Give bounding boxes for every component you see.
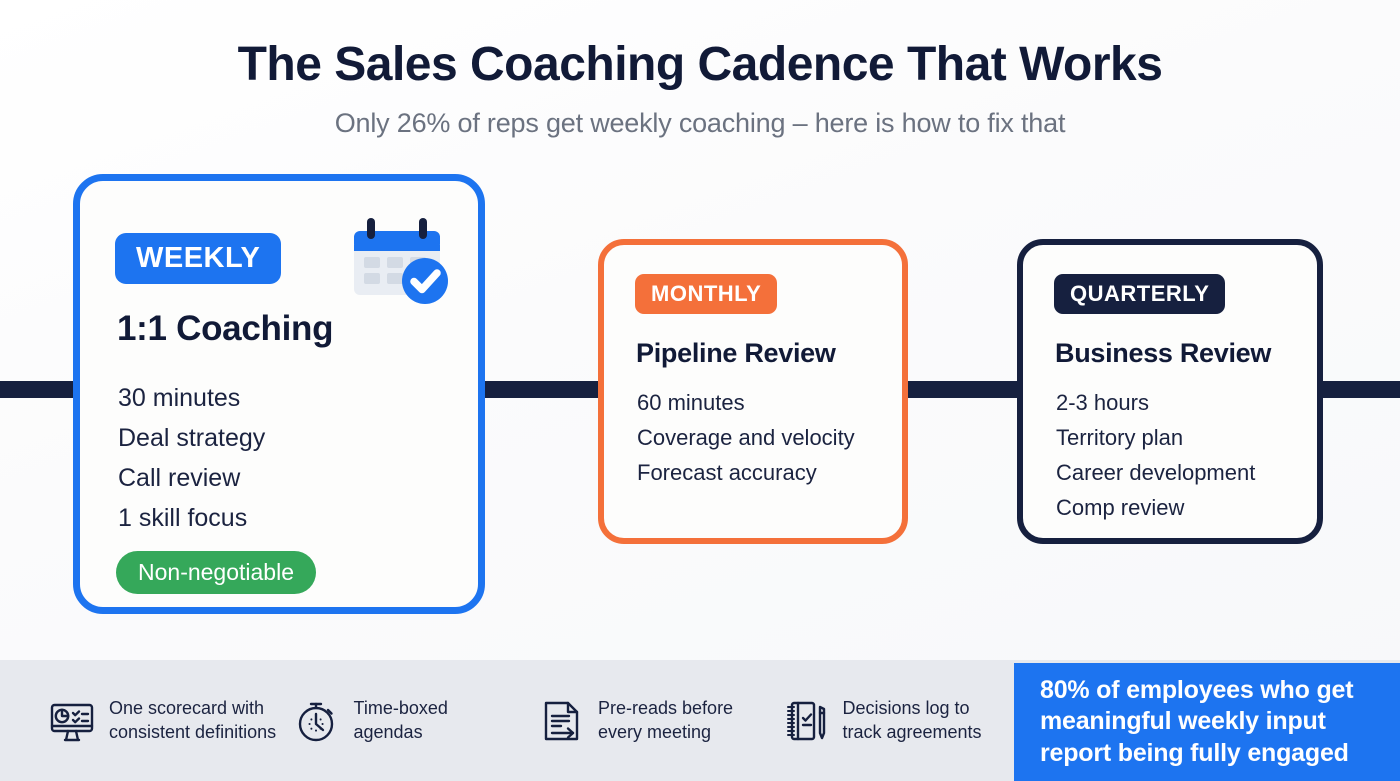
list-item: Territory plan <box>1056 420 1255 455</box>
list-item: 60 minutes <box>637 385 855 420</box>
cadence-card-quarterly[interactable]: QUARTERLY Business Review 2-3 hours Terr… <box>1017 239 1323 544</box>
card-heading-monthly: Pipeline Review <box>636 338 836 369</box>
footer-item-timeboxed: Time-boxed agendas <box>281 697 526 745</box>
footer-bar: One scorecard with consistent definition… <box>0 660 1400 781</box>
monitor-scorecard-icon <box>48 697 96 745</box>
badge-weekly: WEEKLY <box>115 233 281 284</box>
badge-quarterly: QUARTERLY <box>1054 274 1225 314</box>
footer-item-text: Time-boxed agendas <box>354 697 448 745</box>
list-item: 30 minutes <box>118 378 265 418</box>
footer-item-line1: Pre-reads before <box>598 697 733 721</box>
list-item: Call review <box>118 458 265 498</box>
notebook-pen-icon <box>782 697 830 745</box>
list-item: Career development <box>1056 455 1255 490</box>
stopwatch-icon <box>293 697 341 745</box>
footer-item-prereads: Pre-reads before every meeting <box>525 697 770 745</box>
status-badge-non-negotiable: Non-negotiable <box>116 551 316 594</box>
stat-highlight-box: 80% of employees who get meaningful week… <box>1014 663 1400 781</box>
page-subtitle: Only 26% of reps get weekly coaching – h… <box>0 108 1400 139</box>
card-detail-list-monthly: 60 minutes Coverage and velocity Forecas… <box>637 385 855 490</box>
footer-item-line2: track agreements <box>843 721 982 745</box>
cadence-card-weekly[interactable]: WEEKLY 1:1 Coaching <box>73 174 485 614</box>
card-detail-list-weekly: 30 minutes Deal strategy Call review 1 s… <box>118 378 265 538</box>
list-item: 2-3 hours <box>1056 385 1255 420</box>
footer-item-line2: consistent definitions <box>109 721 276 745</box>
footer-item-line2: every meeting <box>598 721 733 745</box>
card-heading-quarterly: Business Review <box>1055 338 1271 369</box>
card-detail-list-quarterly: 2-3 hours Territory plan Career developm… <box>1056 385 1255 525</box>
list-item: Deal strategy <box>118 418 265 458</box>
list-item: Coverage and velocity <box>637 420 855 455</box>
footer-item-text: Pre-reads before every meeting <box>598 697 733 745</box>
list-item: 1 skill focus <box>118 498 265 538</box>
page-title: The Sales Coaching Cadence That Works <box>0 40 1400 90</box>
footer-item-line1: Time-boxed <box>354 697 448 721</box>
list-item: Comp review <box>1056 490 1255 525</box>
footer-item-line2: agendas <box>354 721 448 745</box>
stat-line1: 80% of employees who get <box>1040 675 1353 707</box>
footer-item-line1: One scorecard with <box>109 697 276 721</box>
card-heading-weekly: 1:1 Coaching <box>117 309 333 349</box>
stat-line2: meaningful weekly input <box>1040 706 1353 738</box>
footer-item-line1: Decisions log to <box>843 697 982 721</box>
document-arrow-icon <box>537 697 585 745</box>
footer-item-decisions-log: Decisions log to track agreements <box>770 697 1015 745</box>
footer-item-text: Decisions log to track agreements <box>843 697 982 745</box>
page-header: The Sales Coaching Cadence That Works On… <box>0 0 1400 139</box>
stat-line3: report being fully engaged <box>1040 738 1353 770</box>
footer-item-scorecard: One scorecard with consistent definition… <box>0 697 281 745</box>
footer-item-text: One scorecard with consistent definition… <box>109 697 276 745</box>
badge-monthly: MONTHLY <box>635 274 777 314</box>
stat-highlight-text: 80% of employees who get meaningful week… <box>1040 675 1353 770</box>
list-item: Forecast accuracy <box>637 455 855 490</box>
calendar-check-icon <box>345 209 453 307</box>
footer-tips-list: One scorecard with consistent definition… <box>0 660 1014 781</box>
cadence-card-monthly[interactable]: MONTHLY Pipeline Review 60 minutes Cover… <box>598 239 908 544</box>
